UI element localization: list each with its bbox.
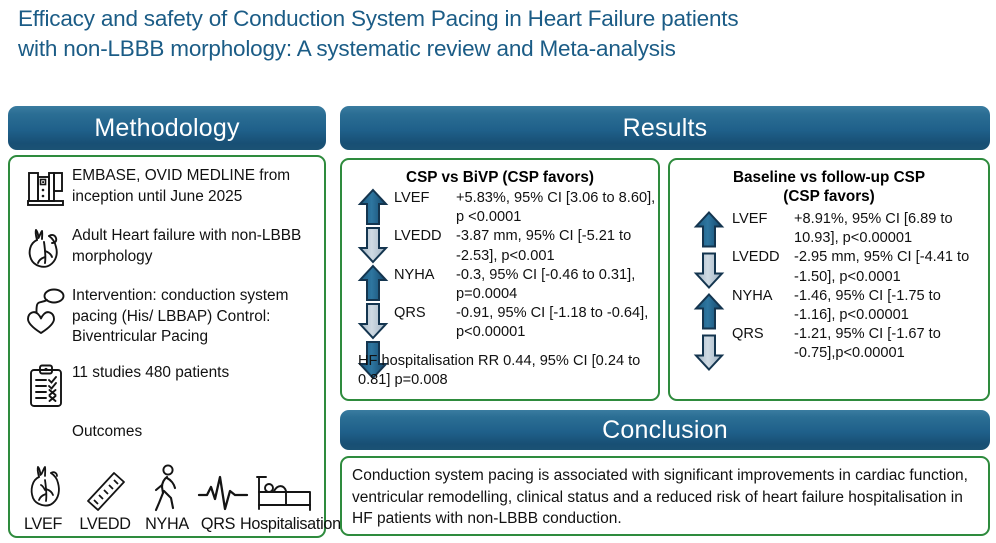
results-left-heading: CSP vs BiVP (CSP favors) — [342, 168, 658, 187]
outcome-label-strip: LVEF LVEDD NYHA QRS Hospitalisation — [14, 515, 322, 534]
methodology-panel: EMBASE, OVID MEDLINE from inception unti… — [8, 155, 326, 538]
results-right-label-qrs: QRS — [732, 325, 794, 363]
conclusion-banner-label: Conclusion — [602, 416, 728, 445]
anatomical-heart-icon — [20, 225, 72, 273]
results-left-value-lvedd: -3.87 mm, 95% CI [-5.21 to -2.53], p<0.0… — [456, 227, 656, 265]
title-line-1: Efficacy and safety of Conduction System… — [18, 6, 738, 31]
arrow-up-dark-icon — [692, 291, 726, 332]
arrow-up-dark-icon — [356, 188, 390, 226]
outcome-label-nyha: NYHA — [138, 515, 196, 534]
results-banner: Results — [340, 106, 990, 150]
table-row: QRS -1.21, 95% CI [-1.67 to -0.75],p<0.0… — [732, 325, 984, 363]
results-right-heading-line-1: Baseline vs follow-up CSP — [733, 169, 925, 186]
methodology-row-studies: 11 studies 480 patients — [20, 362, 316, 410]
methodology-row-databases-text: EMBASE, OVID MEDLINE from inception unti… — [72, 165, 316, 207]
table-row: LVEDD -2.95 mm, 95% CI [-4.41 to -1.50],… — [732, 248, 984, 286]
arrow-down-light-icon — [356, 226, 390, 264]
outcome-icon-strip — [18, 455, 318, 513]
heart-pacemaker-icon — [20, 285, 72, 335]
results-right-heading: Baseline vs follow-up CSP (CSP favors) — [670, 168, 988, 206]
results-right-label-lvedd: LVEDD — [732, 248, 794, 286]
methodology-row-population: Adult Heart failure with non-LBBB morpho… — [20, 225, 316, 273]
hospital-bed-icon — [252, 469, 318, 513]
methodology-row-intervention-text: Intervention: conduction system pacing (… — [72, 285, 316, 348]
results-left-value-qrs: -0.91, 95% CI [-1.18 to -0.64], p<0.0000… — [456, 304, 656, 342]
results-right-rows: LVEF +8.91%, 95% CI [6.89 to 10.93], p<0… — [732, 210, 984, 364]
results-right-value-lvedd: -2.95 mm, 95% CI [-4.41 to -1.50], p<0.0… — [794, 248, 984, 286]
title-line-2: with non-LBBB morphology: A systematic r… — [18, 34, 978, 64]
results-left-label-qrs: QRS — [394, 304, 456, 342]
results-left-value-nyha: -0.3, 95% CI [-0.46 to 0.31], p=0.0004 — [456, 266, 656, 304]
table-row: LVEDD -3.87 mm, 95% CI [-5.21 to -2.53],… — [394, 227, 656, 265]
methodology-row-studies-text: 11 studies 480 patients — [72, 362, 229, 384]
results-right-heading-line-2: (CSP favors) — [783, 188, 875, 205]
results-right-arrow-column — [692, 209, 726, 373]
arrow-down-light-icon — [692, 332, 726, 373]
arrow-down-light-icon — [692, 250, 726, 291]
arrow-up-dark-icon — [692, 209, 726, 250]
table-row: LVEF +8.91%, 95% CI [6.89 to 10.93], p<0… — [732, 210, 984, 248]
results-left-label-lvedd: LVEDD — [394, 227, 456, 265]
outcomes-label: Outcomes — [72, 423, 142, 441]
table-row: QRS -0.91, 95% CI [-1.18 to -0.64], p<0.… — [394, 304, 656, 342]
table-row: LVEF +5.83%, 95% CI [3.06 to 8.60], p <0… — [394, 189, 656, 227]
outcome-label-lvef: LVEF — [14, 515, 72, 534]
results-left-hf-hospitalisation: HF hospitalisation RR 0.44, 95% CI [0.24… — [358, 352, 650, 390]
clipboard-icon — [20, 362, 72, 410]
methodology-row-population-text: Adult Heart failure with non-LBBB morpho… — [72, 225, 316, 267]
conclusion-banner: Conclusion — [340, 410, 990, 450]
results-right-value-nyha: -1.46, 95% CI [-1.75 to -1.16], p<0.0000… — [794, 287, 984, 325]
ruler-icon — [76, 467, 138, 513]
results-left-value-lvef: +5.83%, 95% CI [3.06 to 8.60], p <0.0001 — [456, 189, 656, 227]
page-title: Efficacy and safety of Conduction System… — [18, 4, 978, 64]
results-right-label-nyha: NYHA — [732, 287, 794, 325]
results-right-label-lvef: LVEF — [732, 210, 794, 248]
results-right-value-qrs: -1.21, 95% CI [-1.67 to -0.75],p<0.00001 — [794, 325, 984, 363]
results-left-label-nyha: NYHA — [394, 266, 456, 304]
poster-root: Efficacy and safety of Conduction System… — [0, 0, 996, 543]
results-left-label-lvef: LVEF — [394, 189, 456, 227]
heart-icon — [18, 463, 76, 513]
results-right-value-lvef: +8.91%, 95% CI [6.89 to 10.93], p<0.0000… — [794, 210, 984, 248]
arrow-up-dark-icon — [356, 264, 390, 302]
methodology-banner-label: Methodology — [94, 114, 239, 143]
table-row: NYHA -1.46, 95% CI [-1.75 to -1.16], p<0… — [732, 287, 984, 325]
outcome-label-qrs: QRS — [196, 515, 240, 534]
outcome-label-lvedd: LVEDD — [72, 515, 138, 534]
results-baseline-vs-followup-panel: Baseline vs follow-up CSP (CSP favors) L… — [668, 158, 990, 401]
bookshelf-icon — [20, 165, 72, 209]
results-csp-vs-bivp-panel: CSP vs BiVP (CSP favors) — [340, 158, 660, 401]
results-left-rows: LVEF +5.83%, 95% CI [3.06 to 8.60], p <0… — [394, 189, 656, 343]
conclusion-text: Conduction system pacing is associated w… — [352, 465, 980, 530]
methodology-banner: Methodology — [8, 106, 326, 150]
methodology-row-databases: EMBASE, OVID MEDLINE from inception unti… — [20, 165, 316, 209]
outcome-label-hospitalisation: Hospitalisation — [240, 515, 341, 534]
results-banner-label: Results — [623, 114, 708, 143]
conclusion-panel: Conduction system pacing is associated w… — [340, 456, 990, 536]
walking-person-icon — [138, 463, 194, 513]
arrow-down-light-icon — [356, 302, 390, 340]
ecg-waveform-icon — [194, 469, 252, 513]
table-row: NYHA -0.3, 95% CI [-0.46 to 0.31], p=0.0… — [394, 266, 656, 304]
methodology-row-intervention: Intervention: conduction system pacing (… — [20, 285, 316, 348]
